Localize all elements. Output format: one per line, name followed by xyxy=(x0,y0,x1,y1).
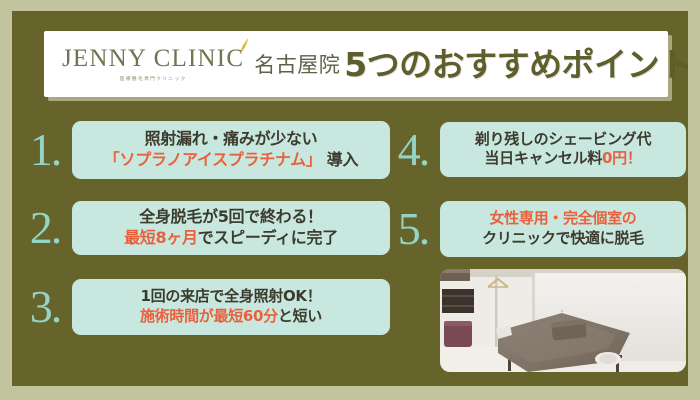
point-number-1: 1. xyxy=(18,127,72,173)
points-section: 1. 照射漏れ・痛みが少ない 「ソプラノアイスプラチナム」 導入 2. xyxy=(12,115,688,385)
point-text: 導入 xyxy=(322,150,359,169)
point-text-accent: 施術時間が最短60分 xyxy=(140,307,278,325)
header-card: JENNY CLINIC 医療脱毛専門クリニック 名古屋院 5つのおすすめポイン… xyxy=(44,31,668,97)
point-text-accent: 「ソプラノアイスプラチナム」 xyxy=(104,150,322,169)
point-box-4: 剃り残しのシェービング代 当日キャンセル料0円！ xyxy=(440,122,686,177)
point-line-4-1: 剃り残しのシェービング代 xyxy=(452,130,674,149)
point-line-2-1: 全身脱毛が5回で終わる！ xyxy=(84,207,378,227)
point-number-4: 4. xyxy=(386,127,440,173)
point-number-5: 5. xyxy=(386,206,440,252)
point-number-3: 3. xyxy=(18,284,72,330)
clinic-branch-name: 名古屋院 xyxy=(254,49,340,79)
clinic-logo-wordmark: JENNY CLINIC xyxy=(62,46,244,71)
point-item-1: 1. 照射漏れ・痛みが少ない 「ソプラノアイスプラチナム」 導入 xyxy=(18,121,390,179)
page-title: 5つのおすすめポイント xyxy=(344,48,691,81)
clinic-logo-subtitle: 医療脱毛専門クリニック xyxy=(120,75,187,82)
point-number-2: 2. xyxy=(18,205,72,251)
points-column-left: 1. 照射漏れ・痛みが少ない 「ソプラノアイスプラチナム」 導入 2. xyxy=(18,115,390,335)
leaf-icon-svg xyxy=(237,37,251,54)
point-text: と短い xyxy=(278,307,322,325)
point-text: でスピーディに完了 xyxy=(198,228,338,247)
point-box-2: 全身脱毛が5回で終わる！ 最短8ヶ月でスピーディに完了 xyxy=(72,201,390,255)
point-text: 照射漏れ・痛みが少ない xyxy=(145,129,318,148)
point-line-5-2: クリニックで快適に脱毛 xyxy=(452,229,674,248)
poster-root: JENNY CLINIC 医療脱毛専門クリニック 名古屋院 5つのおすすめポイン… xyxy=(0,0,700,400)
point-line-1-2: 「ソプラノアイスプラチナム」 導入 xyxy=(84,150,378,170)
point-text: 剃り残しのシェービング代 xyxy=(475,130,651,148)
point-item-4: 4. 剃り残しのシェービング代 当日キャンセル料0円！ xyxy=(386,122,686,177)
point-text-accent: 最短8ヶ月 xyxy=(124,228,198,247)
treatment-room-illustration xyxy=(440,269,686,372)
poster-inner-panel: JENNY CLINIC 医療脱毛専門クリニック 名古屋院 5つのおすすめポイン… xyxy=(12,11,688,386)
point-text-accent: 0円！ xyxy=(602,149,642,167)
point-line-3-1: 1回の来店で全身照射OK！ xyxy=(84,287,378,306)
point-item-3: 3. 1回の来店で全身照射OK！ 施術時間が最短60分と短い xyxy=(18,279,390,335)
point-line-4-2: 当日キャンセル料0円！ xyxy=(452,149,674,168)
point-text-accent: 女性専用・完全個室の xyxy=(489,209,636,227)
point-box-5: 女性専用・完全個室の クリニックで快適に脱毛 xyxy=(440,201,686,257)
point-text: 全身脱毛が5回で終わる！ xyxy=(139,207,323,226)
point-text: 当日キャンセル料 xyxy=(484,149,602,167)
point-line-5-1: 女性専用・完全個室の xyxy=(452,209,674,228)
point-item-2: 2. 全身脱毛が5回で終わる！ 最短8ヶ月でスピーディに完了 xyxy=(18,201,390,255)
point-line-3-2: 施術時間が最短60分と短い xyxy=(84,307,378,326)
clinic-treatment-room-photo xyxy=(440,269,686,372)
point-box-1: 照射漏れ・痛みが少ない 「ソプラノアイスプラチナム」 導入 xyxy=(72,121,390,179)
point-line-1-1: 照射漏れ・痛みが少ない xyxy=(84,129,378,149)
point-item-5: 5. 女性専用・完全個室の クリニックで快適に脱毛 xyxy=(386,201,686,257)
clinic-logo-text: JENNY CLINIC xyxy=(62,46,244,71)
point-text: クリニックで快適に脱毛 xyxy=(482,229,644,247)
point-text: 1回の来店で全身照射OK！ xyxy=(141,287,322,305)
points-column-right: 4. 剃り残しのシェービング代 当日キャンセル料0円！ 5. xyxy=(386,115,686,372)
clinic-logo: JENNY CLINIC 医療脱毛専門クリニック xyxy=(62,46,244,82)
point-box-3: 1回の来店で全身照射OK！ 施術時間が最短60分と短い xyxy=(72,279,390,335)
point-line-2-2: 最短8ヶ月でスピーディに完了 xyxy=(84,228,378,248)
